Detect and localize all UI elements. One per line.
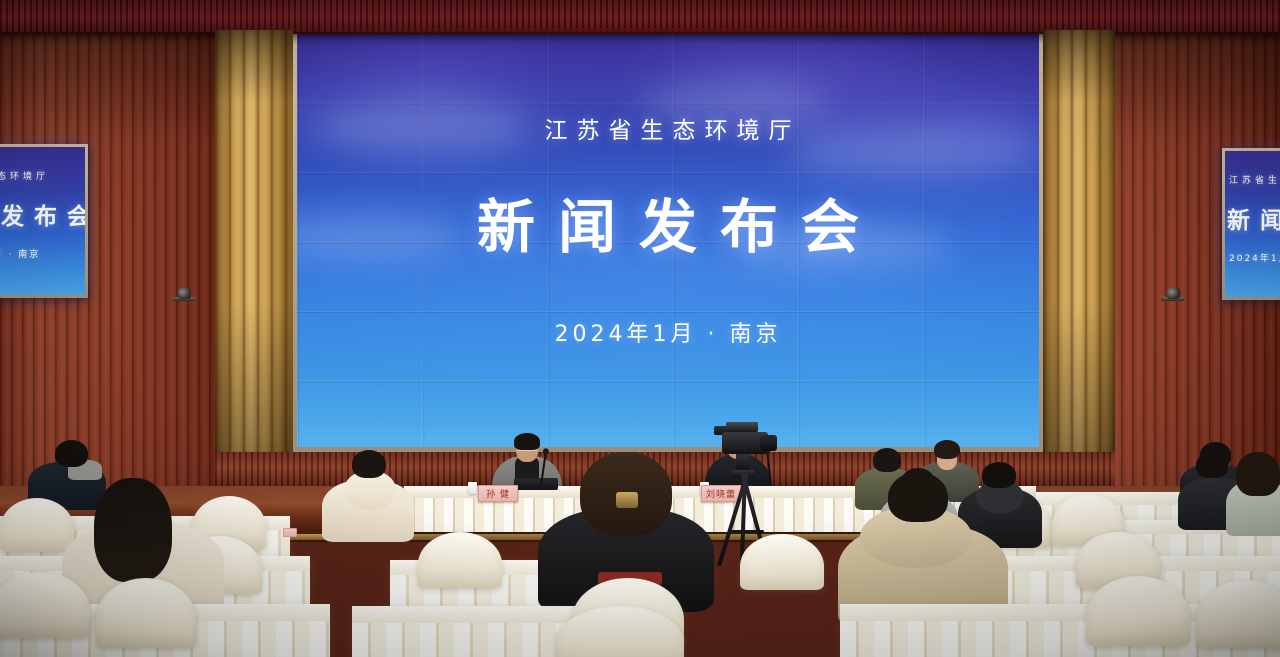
led-video-wall-frame: 江苏省生态环境厅 新闻发布会 2024年1月 · 南京: [292, 28, 1044, 452]
screen-event-meta: 2024年1月 · 南京: [555, 316, 782, 348]
side-display-right: 江苏省生态环境厅 新闻发布会 2024年1月 · 南京: [1222, 148, 1280, 300]
led-video-wall-surface: 江苏省生态环境厅 新闻发布会 2024年1月 · 南京: [297, 33, 1039, 447]
spotlight-head-right: [1167, 288, 1180, 299]
camera-lens-icon: [760, 435, 777, 451]
side-left-event-meta: 2024年1月 · 南京: [0, 247, 40, 260]
ceiling-valance: [0, 0, 1280, 34]
stage-curtain-left: [215, 30, 293, 468]
person-hair: [1196, 452, 1228, 478]
tripod-spreader: [728, 530, 764, 533]
screen-org-name: 江苏省生态环境厅: [536, 111, 801, 145]
person-hair: [1236, 452, 1280, 496]
water-cup-left: [468, 482, 477, 494]
nameplate-presenter-left: 孙 健: [478, 485, 518, 502]
wall-spotlight-left-icon: [171, 286, 197, 308]
audience-chair: [740, 534, 824, 590]
presenter-left-glasses-icon: [517, 450, 537, 454]
table-placard: [283, 528, 297, 537]
person-hair: [352, 450, 386, 478]
curtain-shading-right: [1043, 30, 1115, 470]
side-right-event-title: 新闻发布会: [1227, 201, 1280, 235]
side-right-event-meta: 2024年1月 · 南京: [1229, 251, 1280, 264]
audience-person-green-knit: [1226, 452, 1280, 528]
screen-event-title: 新闻发布会: [454, 180, 882, 264]
side-right-org-name: 江苏省生态环境厅: [1229, 173, 1280, 186]
person-hair: [94, 478, 172, 582]
press-conference-hall-photo: 江苏省生态环境厅 新闻发布会 2024年1月 · 南京 江苏省生态环境厅 新闻发…: [0, 0, 1280, 657]
side-left-org-name: 江苏省生态环境厅: [0, 169, 49, 182]
side-display-left-surface: 江苏省生态环境厅 新闻发布会 2024年1月 · 南京: [0, 147, 85, 295]
spotlight-head-left: [178, 288, 191, 299]
wall-spotlight-right-icon: [1160, 286, 1186, 308]
audience-person-cream-hood: [322, 450, 414, 536]
hair-clip-icon: [616, 492, 638, 508]
side-left-event-title: 新闻发布会: [0, 197, 85, 231]
audience-chair: [418, 532, 502, 588]
stage-curtain-right: [1043, 30, 1115, 470]
side-display-right-surface: 江苏省生态环境厅 新闻发布会 2024年1月 · 南京: [1225, 151, 1280, 297]
screen-text-block: 江苏省生态环境厅 新闻发布会 2024年1月 · 南京: [297, 33, 1039, 447]
presenter-left-hair: [514, 433, 540, 450]
side-display-left: 江苏省生态环境厅 新闻发布会 2024年1月 · 南京: [0, 144, 88, 298]
person-hair: [934, 440, 960, 459]
person-hair: [888, 472, 948, 522]
audience-person-khaki-hood: [838, 470, 1008, 616]
camera-top-handle: [726, 422, 758, 432]
person-hair: [55, 440, 88, 467]
curtain-shading-left: [215, 30, 293, 468]
